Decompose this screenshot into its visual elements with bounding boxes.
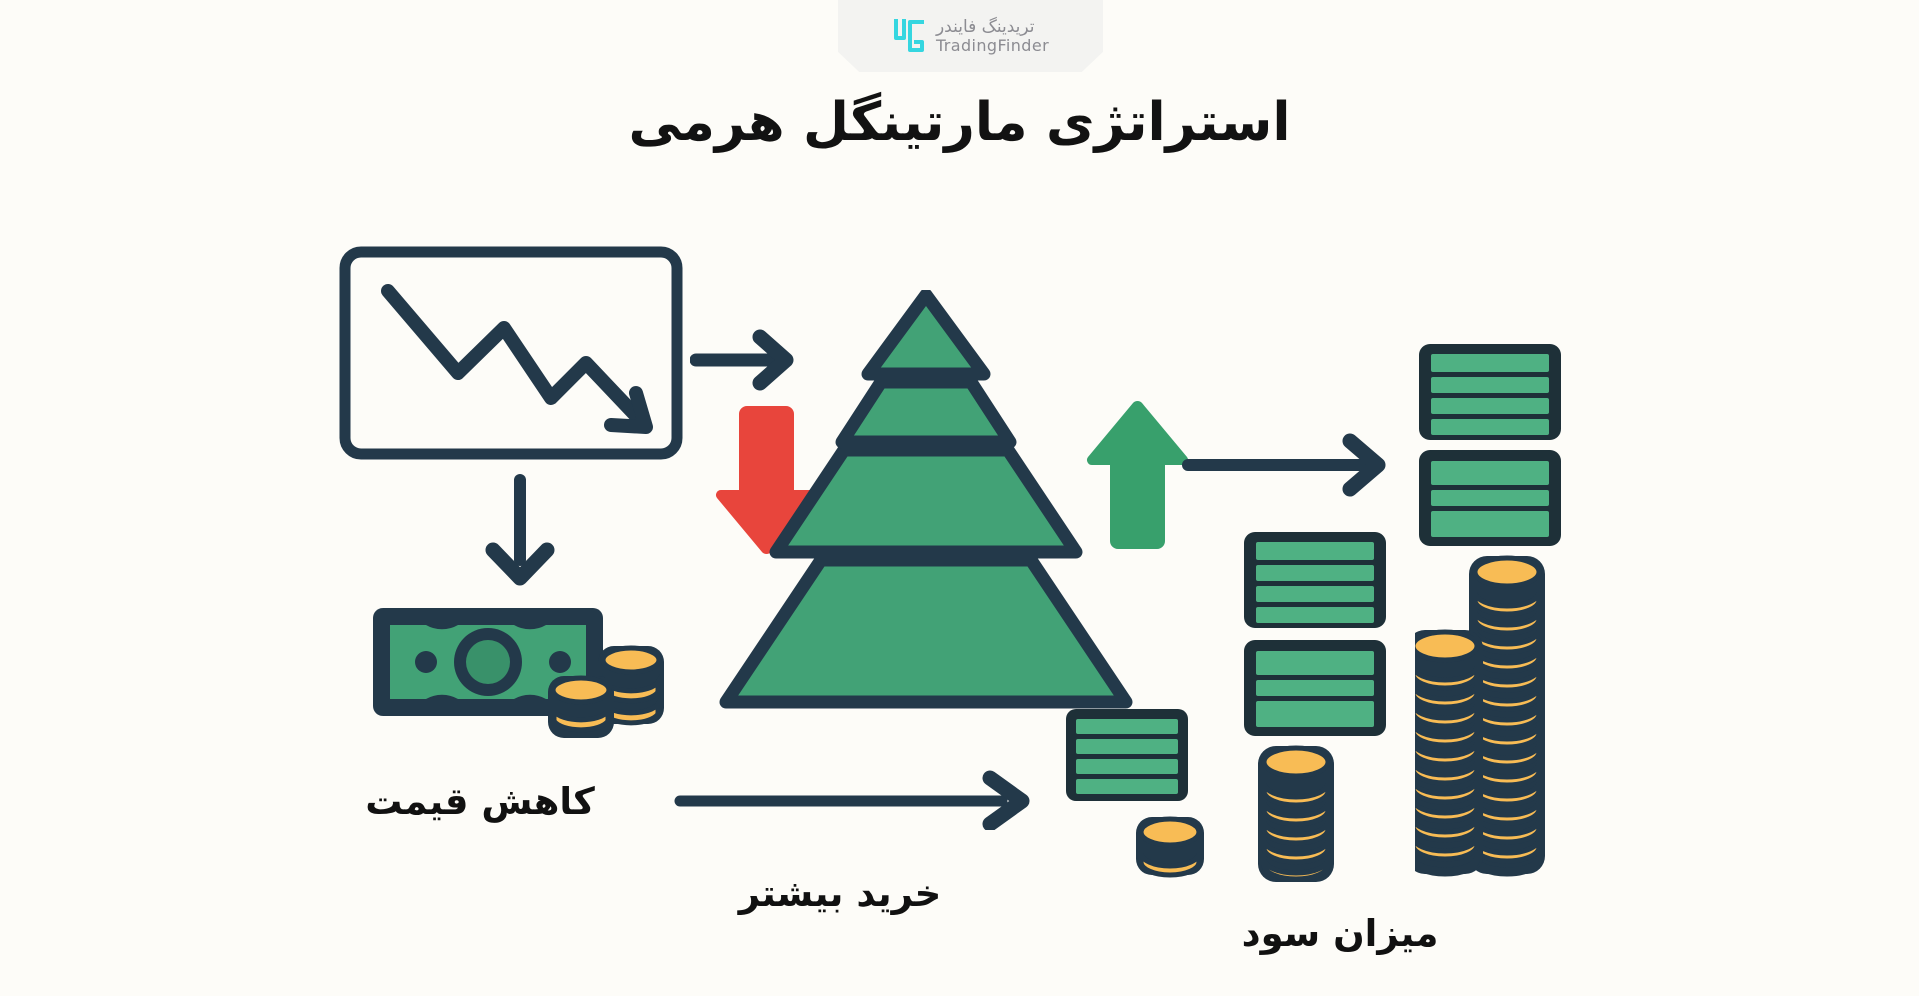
- money-stack-medium: [1240, 528, 1415, 892]
- banknote-and-coins-icon: [368, 598, 668, 752]
- declining-chart-card: [336, 243, 686, 467]
- watermark-text: تریدینگ فایندر TradingFinder: [936, 18, 1049, 54]
- arrow-right-cash-to-buy-more: [672, 770, 1042, 834]
- label-buy-more: خرید بیشتر: [690, 872, 990, 915]
- label-profit-size: میزان سود: [1190, 912, 1490, 955]
- bill-row: [1256, 542, 1374, 560]
- green-arrow-shape: [1087, 401, 1188, 549]
- money-stack-medium-svg: [1240, 528, 1415, 888]
- page-title: استراتژی مارتینگل هرمی: [0, 92, 1919, 153]
- bill-row: [1431, 461, 1549, 485]
- banknote-dot-left: [415, 651, 437, 673]
- tradingfinder-logo-icon: [892, 16, 926, 56]
- infographic-canvas: تریدینگ فایندر TradingFinder استراتژی ما…: [0, 0, 1919, 996]
- bill-row: [1431, 511, 1549, 537]
- bill-row: [1076, 719, 1178, 734]
- arrow-right-pyramid-to-profit: [1180, 432, 1395, 501]
- coin-pair: [1136, 817, 1204, 875]
- bill-row: [1431, 419, 1549, 435]
- martingale-pyramid: [716, 290, 1136, 714]
- coin-stack-short: [1415, 630, 1483, 874]
- bill-row: [1431, 377, 1549, 393]
- banknote-dot-right: [549, 651, 571, 673]
- bill-row: [1256, 586, 1374, 602]
- arrow-right-bottom-icon: [672, 770, 1042, 830]
- bill-row: [1076, 779, 1178, 794]
- pyramid-tier-2: [842, 382, 1010, 442]
- watermark-persian-label: تریدینگ فایندر: [936, 18, 1035, 36]
- pyramid-tier-4-base: [726, 560, 1126, 702]
- bill-row: [1256, 680, 1374, 696]
- bill-row: [1256, 607, 1374, 623]
- coin-stack-front: [548, 676, 614, 738]
- pyramid-tier-3-block: [776, 450, 1076, 552]
- money-stack-large: [1415, 340, 1590, 884]
- pyramid-svg: [716, 290, 1136, 710]
- money-stack-small-svg: [1062, 705, 1222, 885]
- declining-chart-svg: [336, 243, 686, 463]
- arrow-up-profit-rising: [1083, 392, 1193, 561]
- bill-row: [1431, 398, 1549, 414]
- money-stack-small: [1062, 705, 1222, 889]
- label-price-drop: کاهش قیمت: [330, 780, 630, 823]
- bill-row: [1076, 739, 1178, 754]
- banknote-center-inner: [466, 640, 510, 684]
- arrow-down-icon: [475, 470, 565, 590]
- bill-row: [1256, 565, 1374, 581]
- watermark-english-label: TradingFinder: [936, 37, 1049, 54]
- bill-row: [1431, 354, 1549, 372]
- bill-row: [1256, 701, 1374, 727]
- bill-row: [1431, 490, 1549, 506]
- watermark-plate: تریدینگ فایندر TradingFinder: [838, 0, 1103, 72]
- bill-row: [1076, 759, 1178, 774]
- arrow-right-long-icon: [1180, 432, 1395, 497]
- green-up-arrow-icon: [1083, 392, 1193, 557]
- bill-row: [1256, 651, 1374, 675]
- coin-stack: [1258, 746, 1334, 882]
- pyramid-tier-1-top: [868, 295, 984, 374]
- arrow-down-chart-to-cash: [475, 470, 565, 594]
- money-stack-large-svg: [1415, 340, 1590, 880]
- cash-svg: [368, 598, 668, 748]
